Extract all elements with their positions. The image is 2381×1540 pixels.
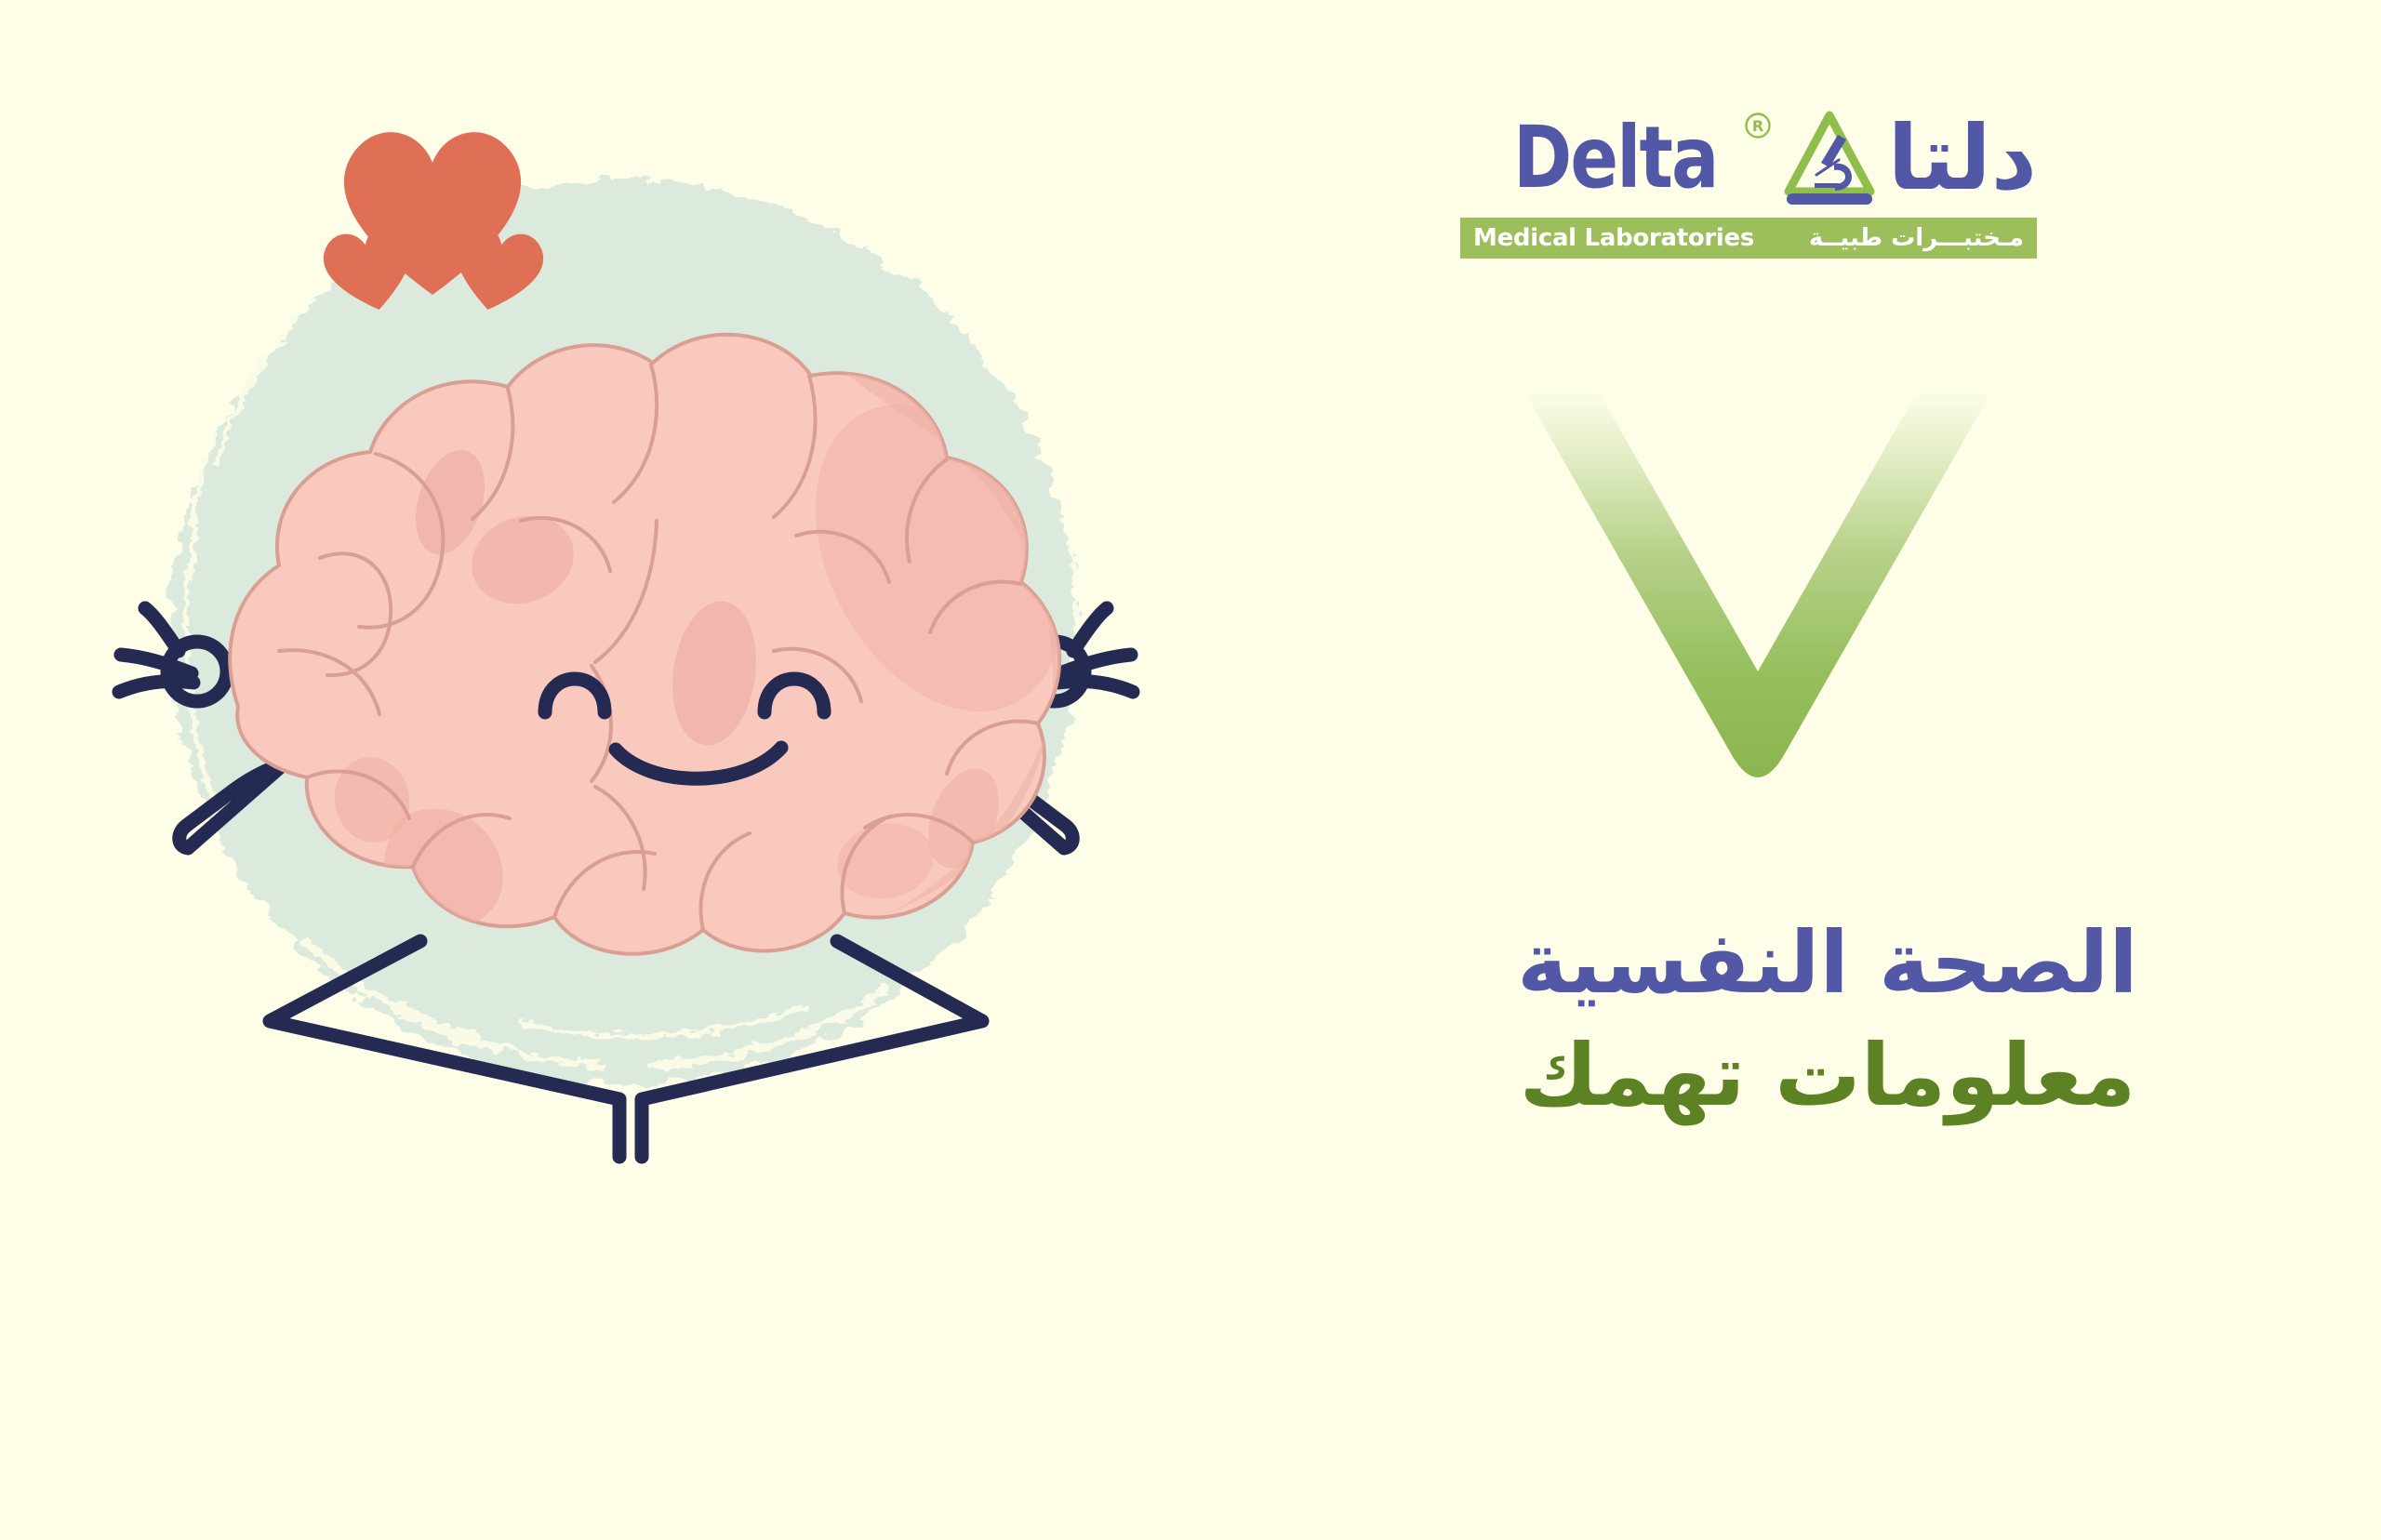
poster-canvas: Delta R	[0, 0, 2381, 1536]
delta-logo[interactable]: Delta R	[1460, 102, 2037, 259]
logo-arabic-name: دلتا	[1887, 113, 2037, 203]
svg-text:R: R	[1752, 117, 1763, 135]
logo-wordmark-row: Delta R	[1460, 102, 2037, 214]
headline-block: الصحة النفسية معلومات تهمك	[1330, 907, 2325, 1133]
logo-tagline-en: Medical Laboratories	[1473, 224, 1754, 252]
brand-panel: Delta R	[1330, 0, 2381, 1536]
microscope-in-triangle-icon	[1781, 110, 1878, 206]
logo-tagline-ar: مـختبـــرات طبيــة	[1809, 224, 2024, 252]
green-v-checkmark-icon	[1497, 391, 2018, 818]
page-title: الصحة النفسية	[1330, 907, 2325, 1019]
page-subtitle: معلومات تهمك	[1330, 1019, 2325, 1132]
registered-trademark-icon: R	[1744, 112, 1772, 139]
logo-tagline-bar: Medical Laboratories مـختبـــرات طبيــة	[1460, 218, 2037, 259]
meditating-brain-illustration	[0, 0, 1321, 1536]
logo-latin-name: Delta	[1513, 115, 1718, 201]
